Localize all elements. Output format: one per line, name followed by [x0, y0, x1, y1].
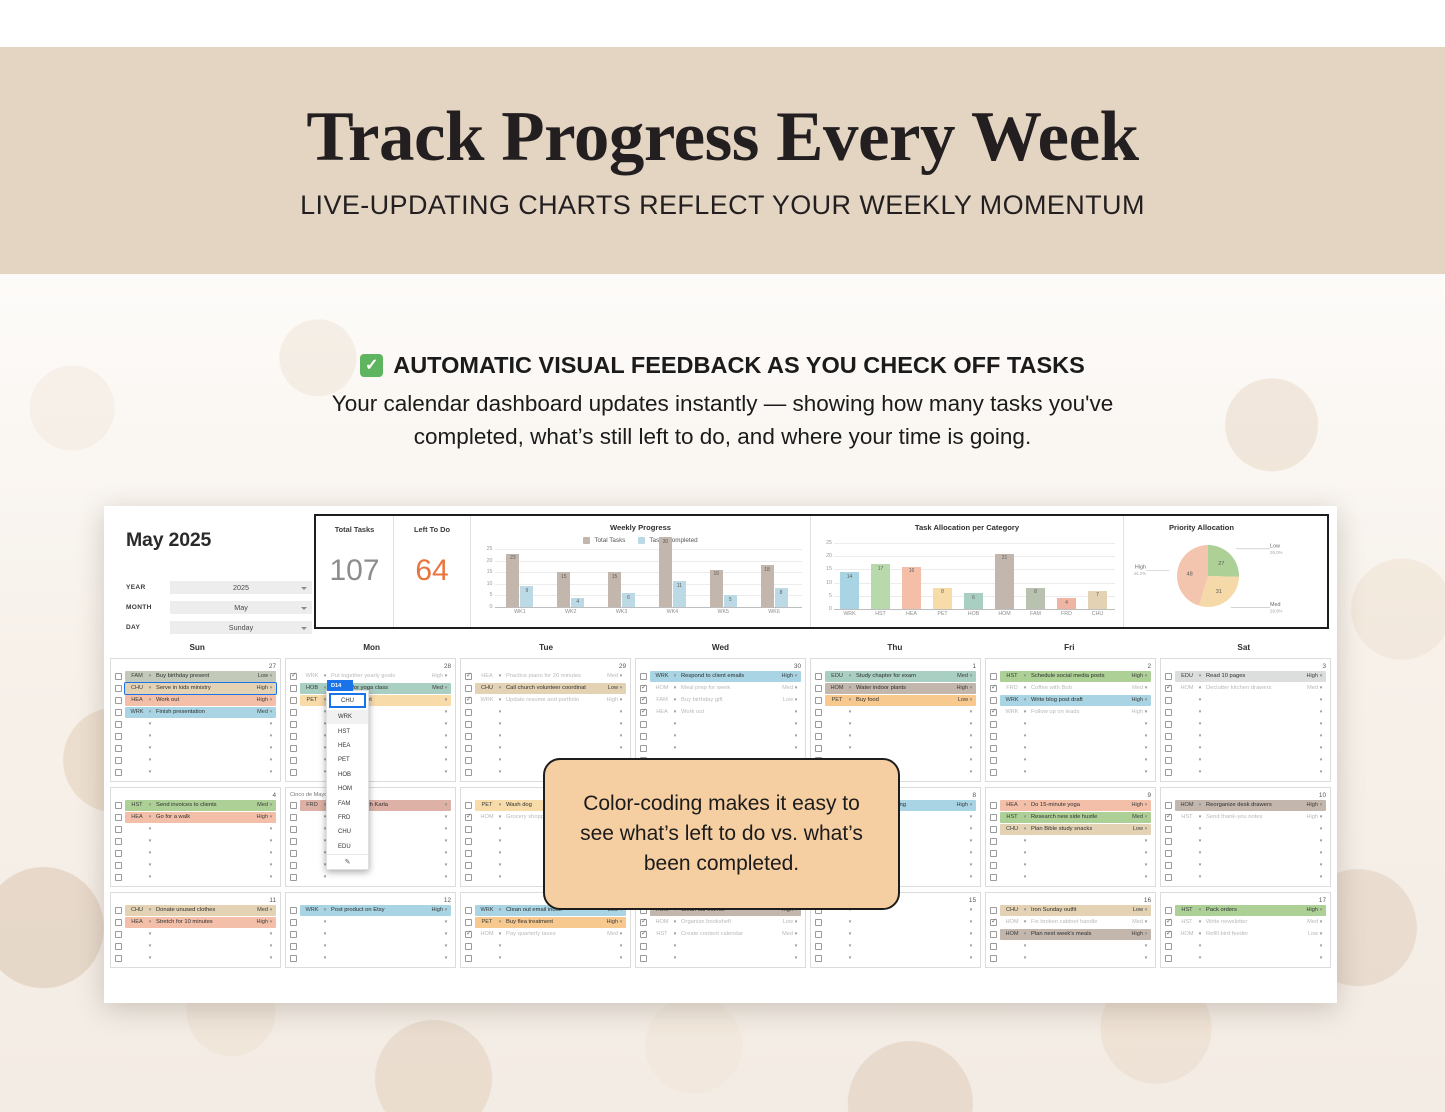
chevron-down-icon[interactable]: ▾	[1318, 757, 1324, 763]
chevron-down-icon[interactable]: ▾	[268, 745, 274, 751]
task-body[interactable]: ▾▾	[1175, 860, 1326, 871]
chevron-down-icon[interactable]: ▾	[1197, 709, 1203, 715]
chevron-down-icon[interactable]: ▾	[268, 709, 274, 715]
task-row[interactable]: HOM▾Pay quarterly taxesMed▾	[465, 929, 626, 940]
task-body[interactable]: CHU▾Call church volunteer coordinatLow▾	[475, 683, 626, 694]
task-checkbox[interactable]	[990, 697, 997, 704]
task-checkbox[interactable]	[640, 919, 647, 926]
chevron-down-icon[interactable]: ▾	[147, 850, 153, 856]
task-checkbox[interactable]	[290, 943, 297, 950]
task-row[interactable]: FAM▾Buy birthday presentLow▾	[115, 671, 276, 682]
chevron-down-icon[interactable]: ▾	[147, 769, 153, 775]
chevron-down-icon[interactable]: ▾	[147, 943, 153, 949]
task-body[interactable]: HOM▾Refill bird feederLow▾	[1175, 929, 1326, 940]
task-checkbox[interactable]	[815, 685, 822, 692]
task-body[interactable]: ▾▾	[300, 917, 451, 928]
task-checkbox[interactable]	[290, 838, 297, 845]
task-checkbox[interactable]	[115, 907, 122, 914]
chevron-down-icon[interactable]: ▾	[968, 931, 974, 937]
chevron-down-icon[interactable]: ▾	[672, 721, 678, 727]
chevron-down-icon[interactable]: ▾	[672, 943, 678, 949]
task-checkbox[interactable]	[290, 862, 297, 869]
calendar-day-cell[interactable]: 17HST▾Pack ordersHigh▾HST▾Write newslett…	[1160, 892, 1331, 968]
picker-field[interactable]: 2025	[170, 581, 312, 594]
task-checkbox[interactable]	[990, 769, 997, 776]
task-row[interactable]: ▾▾	[290, 743, 451, 754]
task-row[interactable]: HOM▾Fix broken cabinet handleMed▾	[990, 917, 1151, 928]
task-body[interactable]: HST▾Pack ordersHigh▾	[1175, 905, 1326, 916]
task-body[interactable]: ▾▾	[825, 743, 976, 754]
task-checkbox[interactable]	[290, 745, 297, 752]
chevron-down-icon[interactable]: ▾	[968, 826, 974, 832]
task-checkbox[interactable]	[465, 874, 472, 881]
chevron-down-icon[interactable]: ▾	[322, 874, 328, 880]
task-row[interactable]: PET▾Take Fluff to vet▾	[290, 695, 451, 706]
task-row[interactable]: ▾▾	[290, 767, 451, 778]
calendar-day-cell[interactable]: 28WRK▾Put together yearly goalsHigh▾HOB▾…	[285, 658, 456, 782]
task-checkbox[interactable]	[815, 673, 822, 680]
task-row[interactable]: ▾▾	[990, 755, 1151, 766]
chevron-down-icon[interactable]: ▾	[968, 709, 974, 715]
task-body[interactable]: ▾▾	[125, 719, 276, 730]
chevron-down-icon[interactable]: ▾	[443, 943, 449, 949]
task-body[interactable]: HOM▾Pay quarterly taxesMed▾	[475, 929, 626, 940]
task-body[interactable]: ▾▾	[125, 755, 276, 766]
task-body[interactable]: HST▾Create content calendarMed▾	[650, 929, 801, 940]
chevron-down-icon[interactable]: ▾	[968, 673, 974, 679]
task-row[interactable]: ▾▾	[1165, 767, 1326, 778]
task-row[interactable]: PET▾Buy foodLow▾	[815, 695, 976, 706]
task-body[interactable]: ▾▾	[1000, 767, 1151, 778]
task-row[interactable]: CHU▾Donate unused clothesMed▾	[115, 905, 276, 916]
chevron-down-icon[interactable]: ▾	[1197, 745, 1203, 751]
chevron-down-icon[interactable]: ▾	[672, 745, 678, 751]
chevron-down-icon[interactable]: ▾	[497, 721, 503, 727]
task-body[interactable]: ▾▾	[650, 719, 801, 730]
task-body[interactable]: HOM▾Fix broken cabinet handleMed▾	[1000, 917, 1151, 928]
dropdown-option-edu[interactable]: EDU	[327, 840, 368, 854]
chevron-down-icon[interactable]: ▾	[1022, 769, 1028, 775]
dropdown-option-wrk[interactable]: WRK	[327, 710, 368, 724]
task-body[interactable]: ▾▾	[300, 929, 451, 940]
task-body[interactable]: ▾▾	[650, 941, 801, 952]
task-body[interactable]: ▾▾	[1000, 719, 1151, 730]
chevron-down-icon[interactable]: ▾	[1143, 919, 1149, 925]
task-row[interactable]: ▾▾	[990, 743, 1151, 754]
chevron-down-icon[interactable]: ▾	[1143, 907, 1149, 913]
chevron-down-icon[interactable]: ▾	[322, 943, 328, 949]
task-row[interactable]: ▾▾	[115, 767, 276, 778]
task-checkbox[interactable]	[990, 931, 997, 938]
task-body[interactable]: HEA▾Go for a walkHigh▾	[125, 812, 276, 823]
task-checkbox[interactable]	[115, 733, 122, 740]
chevron-down-icon[interactable]: ▾	[1143, 850, 1149, 856]
chevron-down-icon[interactable]: ▾	[497, 769, 503, 775]
task-body[interactable]: ▾▾	[300, 812, 451, 823]
task-body[interactable]: ▾▾	[300, 707, 451, 718]
dropdown-option-hea[interactable]: HEA	[327, 739, 368, 753]
chevron-down-icon[interactable]: ▾	[618, 721, 624, 727]
task-body[interactable]: ▾▾	[650, 953, 801, 964]
task-checkbox[interactable]	[815, 709, 822, 716]
task-body[interactable]: FRD▾Coffee with BobMed▾	[1000, 683, 1151, 694]
task-checkbox[interactable]	[1165, 769, 1172, 776]
task-body[interactable]: WRK▾Update resume and portfolioHigh▾	[475, 695, 626, 706]
task-checkbox[interactable]	[115, 697, 122, 704]
chevron-down-icon[interactable]: ▾	[793, 955, 799, 961]
chevron-down-icon[interactable]: ▾	[1318, 733, 1324, 739]
task-row[interactable]: HOM▾Water indoor plantsHigh▾	[815, 683, 976, 694]
chevron-down-icon[interactable]: ▾	[443, 709, 449, 715]
chevron-down-icon[interactable]: ▾	[1143, 826, 1149, 832]
task-checkbox[interactable]	[115, 802, 122, 809]
task-checkbox[interactable]	[990, 733, 997, 740]
chevron-down-icon[interactable]: ▾	[268, 721, 274, 727]
task-body[interactable]: ▾▾	[300, 848, 451, 859]
task-row[interactable]: ▾▾	[290, 860, 451, 871]
task-row[interactable]: ▾▾	[640, 953, 801, 964]
task-body[interactable]: ▾▾	[825, 707, 976, 718]
task-row[interactable]: ▾▾	[815, 941, 976, 952]
task-checkbox[interactable]	[1165, 709, 1172, 716]
task-body[interactable]: ▾▾	[300, 767, 451, 778]
task-checkbox[interactable]	[640, 943, 647, 950]
chevron-down-icon[interactable]: ▾	[1143, 874, 1149, 880]
chevron-down-icon[interactable]: ▾	[268, 862, 274, 868]
task-row[interactable]: ▾▾	[815, 719, 976, 730]
task-row[interactable]: ▾▾	[1165, 860, 1326, 871]
chevron-down-icon[interactable]: ▾	[268, 733, 274, 739]
task-body[interactable]: HEA▾Practice piano for 20 minutesMed▾	[475, 671, 626, 682]
task-body[interactable]: ▾▾	[1175, 707, 1326, 718]
chevron-down-icon[interactable]: ▾	[147, 862, 153, 868]
chevron-down-icon[interactable]: ▾	[793, 931, 799, 937]
task-row[interactable]: ▾▾	[990, 836, 1151, 847]
task-body[interactable]: ▾▾	[1000, 731, 1151, 742]
task-body[interactable]: ▾▾	[300, 953, 451, 964]
task-row[interactable]: FRD▾Coffee with BobMed▾	[990, 683, 1151, 694]
task-body[interactable]: ▾▾	[125, 929, 276, 940]
chevron-down-icon[interactable]: ▾	[1318, 673, 1324, 679]
calendar-day-cell[interactable]: 2HST▾Schedule social media postsHigh▾FRD…	[985, 658, 1156, 782]
task-body[interactable]: ▾▾	[650, 731, 801, 742]
task-row[interactable]: ▾▾	[115, 719, 276, 730]
chevron-down-icon[interactable]: ▾	[443, 955, 449, 961]
task-row[interactable]: ▾▾	[990, 941, 1151, 952]
task-checkbox[interactable]	[1165, 838, 1172, 845]
chevron-down-icon[interactable]: ▾	[1197, 838, 1203, 844]
chevron-down-icon[interactable]: ▾	[793, 721, 799, 727]
task-row[interactable]: ▾▾	[115, 860, 276, 871]
chevron-down-icon[interactable]: ▾	[618, 931, 624, 937]
chevron-down-icon[interactable]: ▾	[497, 757, 503, 763]
task-row[interactable]: ▾▾	[465, 941, 626, 952]
task-row[interactable]: ▾▾	[990, 767, 1151, 778]
task-checkbox[interactable]	[465, 685, 472, 692]
task-checkbox[interactable]	[815, 931, 822, 938]
chevron-down-icon[interactable]: ▾	[968, 850, 974, 856]
task-row[interactable]: ▾▾	[290, 731, 451, 742]
task-body[interactable]: ▾▾	[1000, 743, 1151, 754]
task-checkbox[interactable]	[115, 943, 122, 950]
task-row[interactable]: ▾▾	[115, 941, 276, 952]
task-checkbox[interactable]	[465, 955, 472, 962]
chevron-down-icon[interactable]: ▾	[1318, 826, 1324, 832]
task-checkbox[interactable]	[990, 814, 997, 821]
chevron-down-icon[interactable]: ▾	[968, 745, 974, 751]
task-checkbox[interactable]	[465, 709, 472, 716]
chevron-down-icon[interactable]: ▾	[443, 733, 449, 739]
chevron-down-icon[interactable]	[301, 587, 307, 590]
task-checkbox[interactable]	[465, 814, 472, 821]
task-body[interactable]: ▾▾	[125, 836, 276, 847]
task-body[interactable]: HST▾Send thank-you notesHigh▾	[1175, 812, 1326, 823]
task-body[interactable]: ▾▾	[1175, 755, 1326, 766]
task-row[interactable]: HST▾Send invoices to clientsMed▾	[115, 800, 276, 811]
chevron-down-icon[interactable]: ▾	[268, 757, 274, 763]
chevron-down-icon[interactable]: ▾	[443, 769, 449, 775]
task-body[interactable]: ▾▾	[300, 941, 451, 952]
task-body[interactable]: ▾▾	[1175, 695, 1326, 706]
chevron-down-icon[interactable]: ▾	[1197, 826, 1203, 832]
calendar-day-cell[interactable]: 27FAM▾Buy birthday presentLow▾CHU▾Serve …	[110, 658, 281, 782]
chevron-down-icon[interactable]: ▾	[968, 943, 974, 949]
task-row[interactable]: ▾▾	[815, 731, 976, 742]
chevron-down-icon[interactable]: ▾	[443, 673, 449, 679]
task-checkbox[interactable]	[290, 826, 297, 833]
task-checkbox[interactable]	[465, 673, 472, 680]
task-checkbox[interactable]	[465, 733, 472, 740]
task-row[interactable]: WRK▾Post product on EtsyHigh▾	[290, 905, 451, 916]
chevron-down-icon[interactable]: ▾	[1143, 685, 1149, 691]
task-row[interactable]: WRK▾Follow up on leadsHigh▾	[990, 707, 1151, 718]
task-row[interactable]: ▾▾	[1165, 707, 1326, 718]
task-row[interactable]: ▾▾	[815, 917, 976, 928]
chevron-down-icon[interactable]: ▾	[1022, 838, 1028, 844]
chevron-down-icon[interactable]: ▾	[1143, 943, 1149, 949]
chevron-down-icon[interactable]: ▾	[1143, 721, 1149, 727]
chevron-down-icon[interactable]: ▾	[497, 850, 503, 856]
task-row[interactable]: ▾▾	[990, 872, 1151, 883]
chevron-down-icon[interactable]: ▾	[443, 919, 449, 925]
task-checkbox[interactable]	[115, 931, 122, 938]
task-row[interactable]: HEA▾Go for a walkHigh▾	[115, 812, 276, 823]
task-body[interactable]: ▾▾	[1175, 824, 1326, 835]
chevron-down-icon[interactable]: ▾	[443, 862, 449, 868]
chevron-down-icon[interactable]: ▾	[968, 769, 974, 775]
chevron-down-icon[interactable]: ▾	[147, 721, 153, 727]
chevron-down-icon[interactable]: ▾	[147, 826, 153, 832]
task-checkbox[interactable]	[290, 685, 297, 692]
chevron-down-icon[interactable]	[301, 627, 307, 630]
task-checkbox[interactable]	[290, 919, 297, 926]
dropdown-option-chu[interactable]: CHU	[327, 825, 368, 839]
chevron-down-icon[interactable]: ▾	[1143, 769, 1149, 775]
chevron-down-icon[interactable]: ▾	[147, 955, 153, 961]
task-checkbox[interactable]	[115, 769, 122, 776]
task-row[interactable]: ▾▾	[640, 731, 801, 742]
task-row[interactable]: WRK▾Write blog post draftHigh▾	[990, 695, 1151, 706]
task-row[interactable]: HOM▾Refill bird feederLow▾	[1165, 929, 1326, 940]
calendar-day-cell[interactable]: 10HOM▾Reorganize desk drawersHigh▾HST▾Se…	[1160, 787, 1331, 887]
chevron-down-icon[interactable]: ▾	[618, 943, 624, 949]
chevron-down-icon[interactable]: ▾	[1022, 721, 1028, 727]
task-checkbox[interactable]	[115, 745, 122, 752]
chevron-down-icon[interactable]: ▾	[1143, 838, 1149, 844]
task-body[interactable]: HEA▾Do 15-minute yogaHigh▾	[1000, 800, 1151, 811]
chevron-down-icon[interactable]: ▾	[618, 685, 624, 691]
chevron-down-icon[interactable]: ▾	[968, 802, 974, 808]
task-row[interactable]: HEA▾Work out▾	[640, 707, 801, 718]
task-body[interactable]: CHU▾Serve in kids ministryHigh▾	[125, 683, 276, 694]
task-row[interactable]: ▾▾	[290, 824, 451, 835]
chevron-down-icon[interactable]: ▾	[1197, 697, 1203, 703]
chevron-down-icon[interactable]: ▾	[672, 955, 678, 961]
chevron-down-icon[interactable]: ▾	[618, 697, 624, 703]
task-row[interactable]: ▾▾	[990, 719, 1151, 730]
task-row[interactable]: HEA▾Work outHigh▾	[115, 695, 276, 706]
chevron-down-icon[interactable]: ▾	[443, 697, 449, 703]
chevron-down-icon[interactable]: ▾	[1022, 850, 1028, 856]
task-body[interactable]: HEA▾Work outHigh▾	[125, 695, 276, 706]
chevron-down-icon[interactable]: ▾	[1022, 955, 1028, 961]
chevron-down-icon[interactable]: ▾	[322, 955, 328, 961]
calendar-day-cell[interactable]: 16CHU▾Iron Sunday outfitLow▾HOM▾Fix brok…	[985, 892, 1156, 968]
task-checkbox[interactable]	[990, 862, 997, 869]
task-row[interactable]: ▾▾	[290, 848, 451, 859]
task-row[interactable]: ▾▾	[1165, 953, 1326, 964]
task-row[interactable]: ▾▾	[290, 812, 451, 823]
task-checkbox[interactable]	[815, 721, 822, 728]
calendar-day-cell[interactable]: 12WRK▾Post product on EtsyHigh▾▾▾▾▾▾▾▾▾	[285, 892, 456, 968]
chevron-down-icon[interactable]: ▾	[147, 745, 153, 751]
task-checkbox[interactable]	[115, 709, 122, 716]
task-row[interactable]: ▾▾	[1165, 743, 1326, 754]
chevron-down-icon[interactable]: ▾	[147, 931, 153, 937]
task-body[interactable]: ▾▾	[475, 719, 626, 730]
task-checkbox[interactable]	[990, 907, 997, 914]
chevron-down-icon[interactable]: ▾	[147, 838, 153, 844]
task-checkbox[interactable]	[640, 709, 647, 716]
task-checkbox[interactable]	[640, 697, 647, 704]
task-checkbox[interactable]	[990, 757, 997, 764]
task-checkbox[interactable]	[990, 874, 997, 881]
chevron-down-icon[interactable]: ▾	[968, 919, 974, 925]
task-body[interactable]: ▾▾	[825, 953, 976, 964]
dropdown-option-hst[interactable]: HST	[327, 724, 368, 738]
chevron-down-icon[interactable]: ▾	[497, 955, 503, 961]
task-checkbox[interactable]	[815, 943, 822, 950]
task-row[interactable]: ▾▾	[290, 707, 451, 718]
task-body[interactable]: HOM▾Reorganize desk drawersHigh▾	[1175, 800, 1326, 811]
task-body[interactable]: ▾▾	[125, 848, 276, 859]
task-row[interactable]: ▾▾	[1165, 836, 1326, 847]
picker-row-day[interactable]: DAYSunday	[126, 620, 312, 635]
task-body[interactable]: HST▾Send invoices to clientsMed▾	[125, 800, 276, 811]
chevron-down-icon[interactable]: ▾	[968, 907, 974, 913]
task-row[interactable]: HEA▾Stretch for 10 minutesHigh▾	[115, 917, 276, 928]
task-checkbox[interactable]	[290, 757, 297, 764]
picker-row-year[interactable]: YEAR2025	[126, 580, 312, 595]
chevron-down-icon[interactable]: ▾	[1022, 733, 1028, 739]
task-body[interactable]: HOM▾Organize bookshelfLow▾	[650, 917, 801, 928]
chevron-down-icon[interactable]: ▾	[1143, 862, 1149, 868]
task-checkbox[interactable]	[115, 826, 122, 833]
task-body[interactable]: HOM▾Plan next week's mealsHigh▾	[1000, 929, 1151, 940]
task-row[interactable]: HOB▾Sign up for yoga classMed▾	[290, 683, 451, 694]
task-body[interactable]: ▾▾	[475, 707, 626, 718]
chevron-down-icon[interactable]: ▾	[968, 697, 974, 703]
task-checkbox[interactable]	[465, 769, 472, 776]
chevron-down-icon[interactable]: ▾	[268, 955, 274, 961]
task-row[interactable]: ▾▾	[990, 953, 1151, 964]
task-checkbox[interactable]	[640, 931, 647, 938]
chevron-down-icon[interactable]: ▾	[1318, 697, 1324, 703]
task-checkbox[interactable]	[640, 733, 647, 740]
chevron-down-icon[interactable]: ▾	[1197, 850, 1203, 856]
task-body[interactable]: ▾▾	[300, 743, 451, 754]
task-body[interactable]: ▾▾	[1175, 941, 1326, 952]
task-body[interactable]: CHU▾Iron Sunday outfitLow▾	[1000, 905, 1151, 916]
chevron-down-icon[interactable]: ▾	[618, 955, 624, 961]
chevron-down-icon[interactable]: ▾	[322, 931, 328, 937]
chevron-down-icon[interactable]: ▾	[968, 757, 974, 763]
task-body[interactable]: HOM▾Declutter kitchen drawersMed▾	[1175, 683, 1326, 694]
task-body[interactable]: ▾▾	[1175, 767, 1326, 778]
task-body[interactable]: ▾▾	[125, 824, 276, 835]
chevron-down-icon[interactable]: ▾	[847, 709, 853, 715]
chevron-down-icon[interactable]: ▾	[1143, 931, 1149, 937]
chevron-down-icon[interactable]: ▾	[497, 826, 503, 832]
task-checkbox[interactable]	[115, 814, 122, 821]
chevron-down-icon[interactable]: ▾	[1318, 931, 1324, 937]
chevron-down-icon[interactable]: ▾	[1143, 733, 1149, 739]
chevron-down-icon[interactable]: ▾	[443, 874, 449, 880]
task-row[interactable]: HST▾Pack ordersHigh▾	[1165, 905, 1326, 916]
task-row[interactable]: ▾▾	[815, 707, 976, 718]
task-body[interactable]: CHU▾Donate unused clothesMed▾	[125, 905, 276, 916]
task-row[interactable]: ▾▾	[465, 707, 626, 718]
task-checkbox[interactable]	[640, 673, 647, 680]
task-body[interactable]: WRK▾Finish presentationMed▾	[125, 707, 276, 718]
task-row[interactable]: ▾▾	[115, 929, 276, 940]
task-checkbox[interactable]	[1165, 850, 1172, 857]
chevron-down-icon[interactable]: ▾	[268, 769, 274, 775]
task-row[interactable]: CHU▾Call church volunteer coordinatLow▾	[465, 683, 626, 694]
task-checkbox[interactable]	[465, 697, 472, 704]
chevron-down-icon[interactable]: ▾	[1318, 709, 1324, 715]
task-checkbox[interactable]	[990, 955, 997, 962]
task-body[interactable]: WRK▾Post product on EtsyHigh▾	[300, 905, 451, 916]
task-checkbox[interactable]	[290, 907, 297, 914]
task-checkbox[interactable]	[990, 850, 997, 857]
task-body[interactable]: ▾▾	[300, 836, 451, 847]
chevron-down-icon[interactable]: ▾	[268, 685, 274, 691]
task-body[interactable]: ▾▾	[125, 767, 276, 778]
chevron-down-icon[interactable]: ▾	[497, 709, 503, 715]
chevron-down-icon[interactable]: ▾	[1197, 943, 1203, 949]
task-checkbox[interactable]	[290, 709, 297, 716]
task-row[interactable]: ▾▾	[1165, 695, 1326, 706]
chevron-down-icon[interactable]: ▾	[793, 685, 799, 691]
task-body[interactable]: ▾▾	[1175, 872, 1326, 883]
category-dropdown[interactable]: D14 CHU WRKHSTHEAPETHOBHOMFAMFRDCHUEDU ✎	[326, 690, 369, 870]
task-row[interactable]: ▾▾	[115, 743, 276, 754]
chevron-down-icon[interactable]: ▾	[672, 733, 678, 739]
task-checkbox[interactable]	[115, 685, 122, 692]
task-checkbox[interactable]	[990, 943, 997, 950]
task-checkbox[interactable]	[115, 862, 122, 869]
